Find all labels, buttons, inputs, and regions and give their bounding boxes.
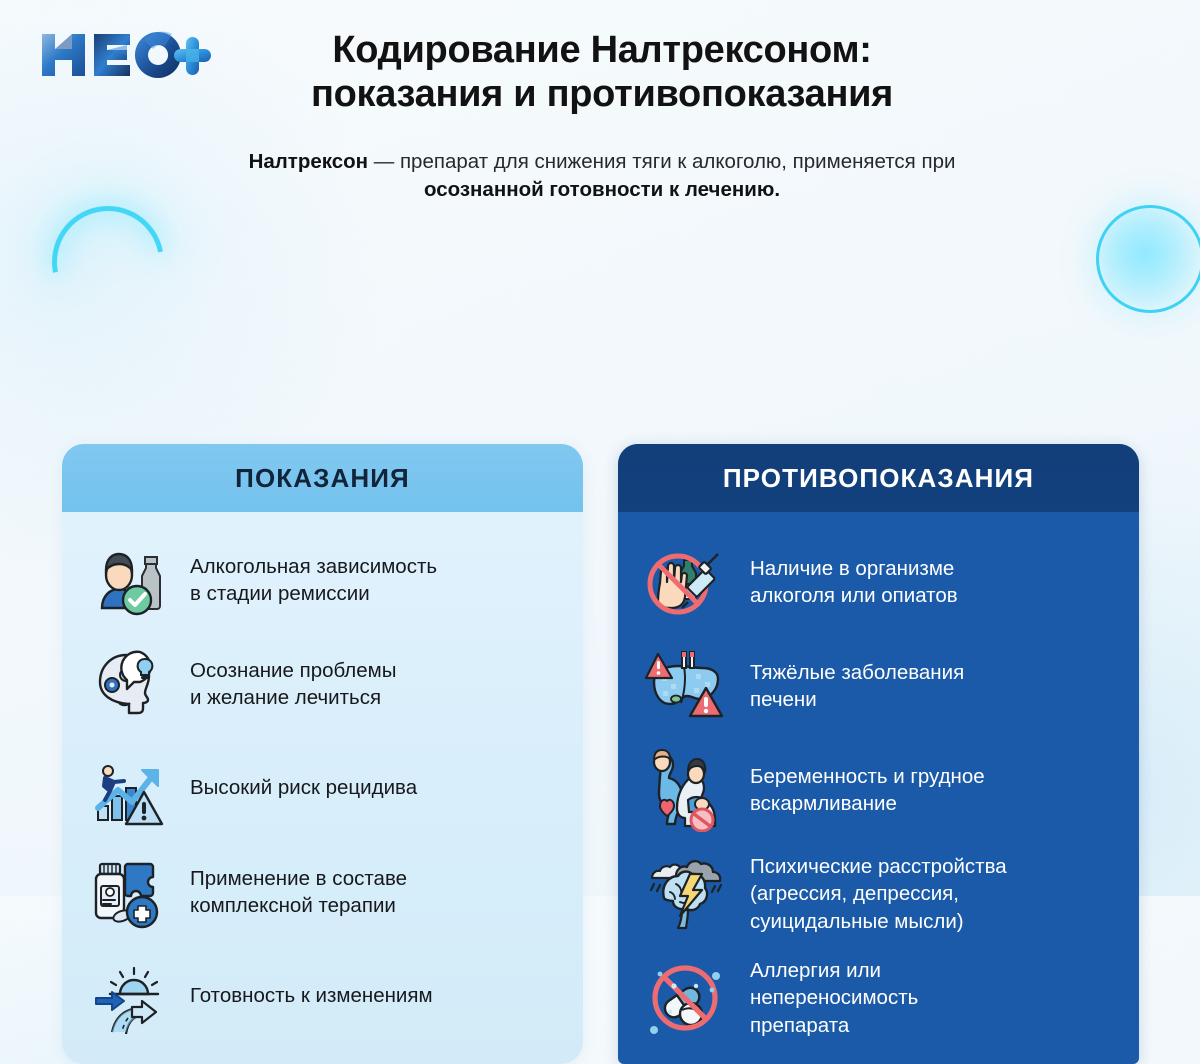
list-item-line-2: комплексной терапии xyxy=(190,892,407,919)
list-item-line-1: Высокий риск рецидива xyxy=(190,774,417,801)
list-item-text: Тяжёлые заболевания печени xyxy=(750,659,964,714)
subtitle-drug-name: Налтрексон xyxy=(249,150,369,173)
list-item: Алкогольная зависимость в стадии ремисси… xyxy=(88,528,557,632)
card-indications: ПОКАЗАНИЯ Алкогольная зависимость в стад… xyxy=(62,444,583,1064)
list-item-text: Готовность к изменениям xyxy=(190,982,433,1009)
page-header: Кодирование Налтрексоном: показания и пр… xyxy=(0,0,1200,212)
title-line-2: показания и противопоказания xyxy=(222,72,982,116)
medicine-puzzle-cross-icon xyxy=(88,850,172,934)
list-item-line-1: Применение в составе xyxy=(190,865,407,892)
list-item-text: Осознание проблемы и желание лечиться xyxy=(190,657,397,712)
list-item: Готовность к изменениям xyxy=(88,944,557,1048)
list-item-line-3: препарата xyxy=(750,1012,918,1039)
decorative-ring-glow xyxy=(1096,205,1200,313)
list-item: Наличие в организме алкоголя или опиатов xyxy=(644,530,1117,634)
person-bottle-check-icon xyxy=(88,538,172,622)
subtitle-middle: — препарат для снижения тяги к алкоголю,… xyxy=(368,150,955,173)
no-alcohol-syringe-icon xyxy=(644,540,728,624)
card-indications-header: ПОКАЗАНИЯ xyxy=(62,444,583,512)
liver-warning-icon xyxy=(644,644,728,728)
list-item-line-2: непереносимость xyxy=(750,984,918,1011)
list-item-text: Беременность и грудное вскармливание xyxy=(750,763,985,818)
list-item-line-1: Психические расстройства xyxy=(750,853,1007,880)
card-contraindications-header: ПРОТИВОПОКАЗАНИЯ xyxy=(618,444,1139,512)
card-indications-items: Алкогольная зависимость в стадии ремисси… xyxy=(62,512,583,1058)
list-item: Аллергия или непереносимость препарата xyxy=(644,946,1117,1050)
list-item-line-2: и желание лечиться xyxy=(190,684,397,711)
no-pills-allergy-icon xyxy=(644,956,728,1040)
sunrise-road-arrow-icon xyxy=(88,954,172,1038)
list-item-line-2: вскармливание xyxy=(750,790,985,817)
list-item: Применение в составе комплексной терапии xyxy=(88,840,557,944)
list-item-line-1: Беременность и грудное xyxy=(750,763,985,790)
list-item-line-1: Наличие в организме xyxy=(750,555,958,582)
page-title: Кодирование Налтрексоном: показания и пр… xyxy=(222,28,982,117)
list-item-line-1: Алкогольная зависимость xyxy=(190,553,437,580)
list-item-text: Алкогольная зависимость в стадии ремисси… xyxy=(190,553,437,608)
brain-storm-icon xyxy=(644,852,728,936)
list-item: Высокий риск рецидива xyxy=(88,736,557,840)
pregnancy-breastfeeding-icon xyxy=(644,748,728,832)
list-item-line-1: Осознание проблемы xyxy=(190,657,397,684)
list-item: Беременность и грудное вскармливание xyxy=(644,738,1117,842)
list-item-line-2: печени xyxy=(750,686,964,713)
list-item-text: Психические расстройства (агрессия, депр… xyxy=(750,853,1007,935)
list-item: Осознание проблемы и желание лечиться xyxy=(88,632,557,736)
list-item-line-1: Аллергия или xyxy=(750,957,918,984)
card-contraindications-items: Наличие в организме алкоголя или опиатов xyxy=(618,512,1139,1060)
head-gears-idea-icon xyxy=(88,642,172,726)
list-item-line-2: (агрессия, депрессия, xyxy=(750,880,1007,907)
list-item-line-1: Тяжёлые заболевания xyxy=(750,659,964,686)
list-item-text: Аллергия или непереносимость препарата xyxy=(750,957,918,1039)
list-item-line-2: в стадии ремиссии xyxy=(190,580,437,607)
list-item: Тяжёлые заболевания печени xyxy=(644,634,1117,738)
list-item-text: Применение в составе комплексной терапии xyxy=(190,865,407,920)
list-item-line-1: Готовность к изменениям xyxy=(190,982,433,1009)
list-item: Психические расстройства (агрессия, депр… xyxy=(644,842,1117,946)
list-item-line-3: суицидальные мысли) xyxy=(750,908,1007,935)
list-item-text: Наличие в организме алкоголя или опиатов xyxy=(750,555,958,610)
subtitle-emphasis: осознанной готовности к лечению. xyxy=(424,178,780,201)
card-contraindications: ПРОТИВОПОКАЗАНИЯ Нали xyxy=(618,444,1139,1064)
rising-chart-risk-icon xyxy=(88,746,172,830)
page-subtitle: Налтрексон — препарат для снижения тяги … xyxy=(222,148,982,203)
neo-logo xyxy=(36,28,214,82)
title-line-1: Кодирование Налтрексоном: xyxy=(332,29,871,71)
list-item-line-2: алкоголя или опиатов xyxy=(750,582,958,609)
list-item-text: Высокий риск рецидива xyxy=(190,774,417,801)
